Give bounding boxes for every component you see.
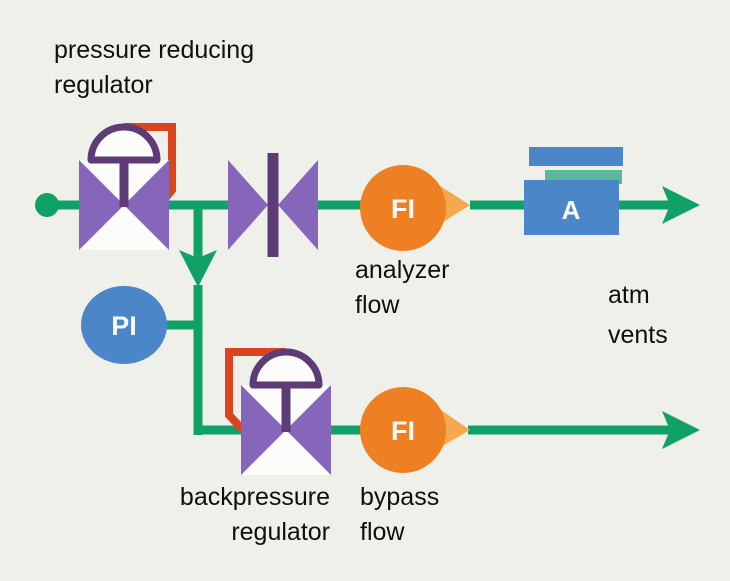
inlet-connection-dot [35, 193, 59, 217]
regulator-stem [120, 158, 129, 207]
flow-diagram-canvas: FI FI PI A pressure reducing regulator a… [0, 0, 730, 581]
analyzer-flow-label-line1: analyzer [355, 256, 450, 284]
analyzer-unit[interactable]: A [524, 147, 623, 235]
analyzer-top-bar [529, 147, 623, 166]
backpressure-regulator-label-line2: regulator [231, 518, 330, 546]
pipe-needle-to-fi [311, 201, 366, 210]
pipe-bypass-to-vent [468, 426, 687, 435]
pressure-indicator-tag: PI [111, 311, 137, 341]
pipe-branch-vertical-lower [194, 285, 203, 435]
pipe-fi-to-analyzer [470, 201, 528, 210]
backpressure-regulator-label-line1: backpressure [180, 483, 330, 511]
analyzer-tag: A [562, 195, 581, 225]
backpressure-stem [282, 383, 291, 432]
needle-valve-stem [268, 153, 279, 257]
bypass-flow-label-line1: bypass [360, 483, 439, 511]
pressure-reducing-regulator-label-line2: regulator [54, 71, 153, 99]
atm-vents-label-line1: atm [608, 281, 650, 309]
pipe-branch-vertical-upper [194, 201, 203, 259]
backpressure-dome-icon [253, 352, 319, 385]
regulator-dome-icon [91, 127, 157, 160]
process-flow-diagram: FI FI PI A pressure reducing regulator a… [0, 0, 730, 581]
bypass-flow-label-line2: flow [360, 518, 405, 546]
atm-vents-label-line2: vents [608, 321, 668, 349]
pressure-indicator[interactable]: PI [81, 286, 167, 364]
analyzer-fi-tag: FI [391, 194, 415, 224]
bypass-fi-tag: FI [391, 416, 415, 446]
pressure-reducing-regulator-label-line1: pressure reducing [54, 36, 254, 64]
analyzer-flow-label-line2: flow [355, 291, 400, 319]
